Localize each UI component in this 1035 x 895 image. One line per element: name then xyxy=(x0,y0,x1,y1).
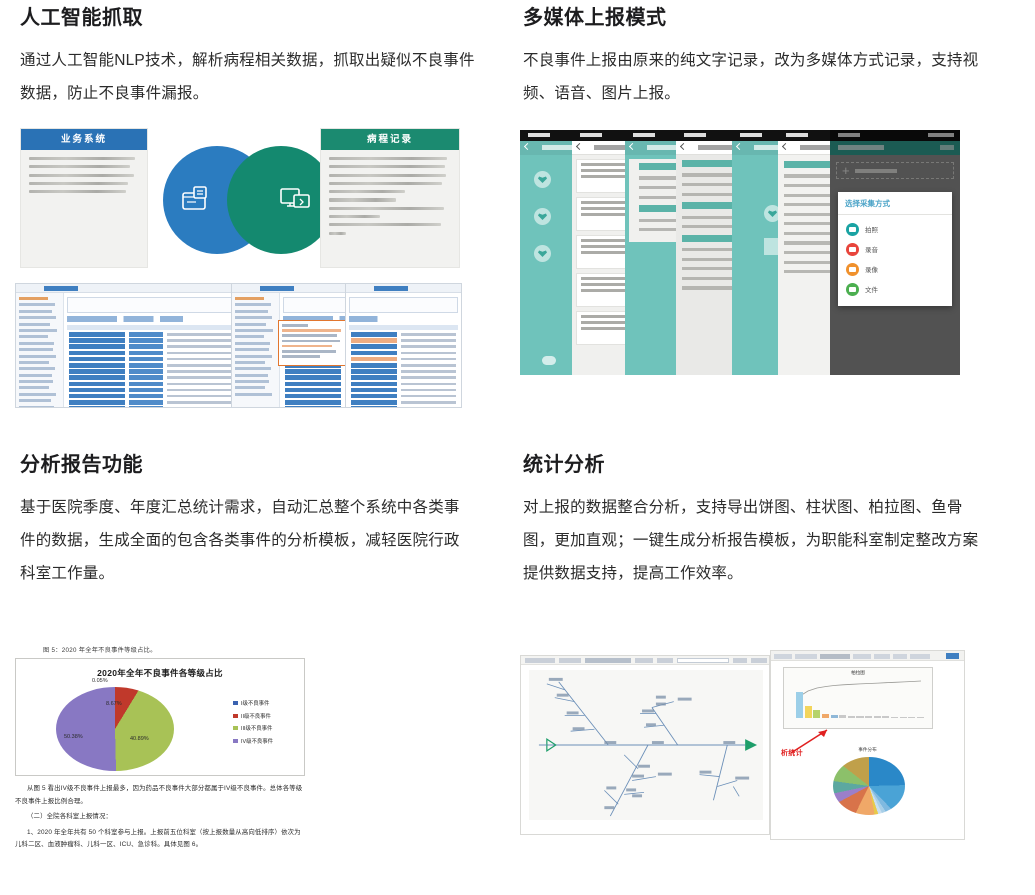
page-title-multimedia: 多媒体上报模式 xyxy=(523,8,983,28)
section-body-ai-capture: 通过人工智能NLP技术，解析病程相关数据，抓取出疑似不良事件数据，防止不良事件漏… xyxy=(20,44,475,110)
report-paragraphs: 从图 5 看出IV级不良事件上报最多，因为药品不良事件大部分都属于IV级不良事件… xyxy=(15,783,305,852)
legend-swatch xyxy=(233,739,238,743)
page-title-ai-capture: 人工智能抓取 xyxy=(20,8,475,28)
feature-showcase-page: 人工智能抓取 通过人工智能NLP技术，解析病程相关数据，抓取出疑似不良事件数据，… xyxy=(0,0,1035,895)
distribution-pie-chart xyxy=(833,757,905,815)
mobile-screen-capture-dialog[interactable]: + 选择采集方式 拍照 录音 录像 xyxy=(830,130,960,375)
pie-chart-container: 2020年全年不良事件各等级占比 0.05% 8.67% 40.89% 50.3… xyxy=(15,658,305,776)
dialog-option-photo[interactable]: 拍照 xyxy=(844,219,946,239)
pie-label-iii: 40.89% xyxy=(130,736,149,742)
legend-item: III级不良事件 xyxy=(233,724,295,732)
section-analysis-text: 分析报告功能 基于医院季度、年度汇总统计需求，自动汇总整个系统中各类事件的数据，… xyxy=(20,455,475,590)
venn-illustration: 业务系统 xyxy=(15,128,460,273)
legend-label: I级不良事件 xyxy=(241,699,269,707)
venn-circle-right xyxy=(227,146,335,254)
page-title-statistics: 统计分析 xyxy=(523,455,983,475)
report-paragraph: 从图 5 看出IV级不良事件上报最多，因为药品不良事件大部分都属于IV级不良事件… xyxy=(15,783,305,808)
legend-swatch xyxy=(233,714,238,718)
analytics-toolbar[interactable] xyxy=(771,651,964,661)
figure-caption: 图 5：2020 年全年不良事件等级占比。 xyxy=(15,645,305,654)
section-body-analysis: 基于医院季度、年度汇总统计需求，自动汇总整个系统中各类事件的数据，生成全面的包含… xyxy=(20,491,475,590)
microphone-icon xyxy=(846,243,859,256)
video-icon xyxy=(846,263,859,276)
dialog-option-label: 拍照 xyxy=(865,224,878,234)
legend-item: IV级不良事件 xyxy=(233,737,295,745)
section-body-multimedia: 不良事件上报由原来的纯文字记录，改为多媒体方式记录，支持视频、语音、图片上报。 xyxy=(523,44,983,110)
section-body-statistics: 对上报的数据整合分析，支持导出饼图、柱状图、柏拉图、鱼骨图，更加直观；一键生成分… xyxy=(523,491,983,590)
mobile-screenshot-strip: 16 8 2 xyxy=(520,130,960,375)
dialog-option-audio[interactable]: 录音 xyxy=(844,239,946,259)
arrow-head-right xyxy=(745,739,757,751)
folder-document-icon xyxy=(181,185,215,215)
dialog-option-file[interactable]: 文件 xyxy=(844,279,946,299)
nlp-highlight-tooltip xyxy=(278,320,350,366)
pie-slices xyxy=(56,687,174,771)
screenshot-event-list[interactable] xyxy=(15,283,237,408)
section-multimedia-text: 多媒体上报模式 不良事件上报由原来的纯文字记录，改为多媒体方式记录，支持视频、语… xyxy=(523,8,983,110)
legend-item: I级不良事件 xyxy=(233,699,295,707)
chart-title: 2020年全年不良事件各等级占比 xyxy=(16,659,304,679)
legend-label: IV级不良事件 xyxy=(241,737,273,745)
pie-label-ii: 8.67% xyxy=(106,701,122,707)
venn-card-left-body xyxy=(21,150,147,205)
monitor-screen-icon xyxy=(279,185,313,215)
report-paragraph: （二）全院各科室上报情况： xyxy=(15,811,305,824)
venn-card-right-body xyxy=(321,150,459,247)
legend-label: III级不良事件 xyxy=(241,724,272,732)
chart-legend: I级不良事件 II级不良事件 III级不良事件 IV级不良事件 xyxy=(233,699,295,749)
page-title-analysis: 分析报告功能 xyxy=(20,455,475,475)
dialog-option-label: 录音 xyxy=(865,244,878,254)
legend-swatch xyxy=(233,726,238,730)
pie2-title: 事件分布 xyxy=(771,747,964,753)
fishbone-svg xyxy=(529,670,763,820)
report-paragraph: 1、2020 年全年共有 50 个科室参与上报。上报前五位科室（按上报数量从高向… xyxy=(15,827,305,852)
section-ai-capture-text: 人工智能抓取 通过人工智能NLP技术，解析病程相关数据，抓取出疑似不良事件数据，… xyxy=(20,8,475,110)
pareto-bars xyxy=(796,688,924,718)
legend-swatch xyxy=(233,701,238,705)
venn-card-course-record: 病程记录 xyxy=(320,128,460,268)
statistics-analysis-screenshot[interactable]: 柏拉图 析统计 事件分布 xyxy=(770,650,965,840)
file-icon xyxy=(846,283,859,296)
fishbone-canvas[interactable] xyxy=(529,670,763,820)
pie-label-iv: 50.38% xyxy=(64,734,83,740)
desktop-screenshot-strip xyxy=(15,283,462,408)
fishbone-toolbar[interactable] xyxy=(521,656,769,665)
pareto-chart: 柏拉图 xyxy=(783,667,933,729)
pie-label-i: 0.05% xyxy=(92,678,108,684)
legend-item: II级不良事件 xyxy=(233,712,295,720)
venn-card-business-system: 业务系统 xyxy=(20,128,148,268)
pareto-title: 柏拉图 xyxy=(784,668,932,676)
fishbone-diagram-screenshot[interactable] xyxy=(520,655,770,835)
venn-card-left-header: 业务系统 xyxy=(21,129,147,150)
dialog-option-label: 文件 xyxy=(865,284,878,294)
venn-card-right-header: 病程记录 xyxy=(321,129,459,150)
pie-chart: 0.05% 8.67% 40.89% 50.38% xyxy=(56,687,174,771)
section-statistics-text: 统计分析 对上报的数据整合分析，支持导出饼图、柱状图、柏拉图、鱼骨图，更加直观；… xyxy=(523,455,983,590)
dialog-option-label: 录像 xyxy=(865,264,878,274)
legend-label: II级不良事件 xyxy=(241,712,271,720)
screenshot-nlp-result[interactable] xyxy=(345,283,462,408)
camera-icon xyxy=(846,223,859,236)
analysis-report-document: 图 5：2020 年全年不良事件等级占比。 2020年全年不良事件各等级占比 0… xyxy=(15,645,305,885)
capture-method-dialog: 选择采集方式 拍照 录音 录像 xyxy=(838,192,952,306)
dialog-title: 选择采集方式 xyxy=(838,192,952,215)
dialog-option-video[interactable]: 录像 xyxy=(844,259,946,279)
